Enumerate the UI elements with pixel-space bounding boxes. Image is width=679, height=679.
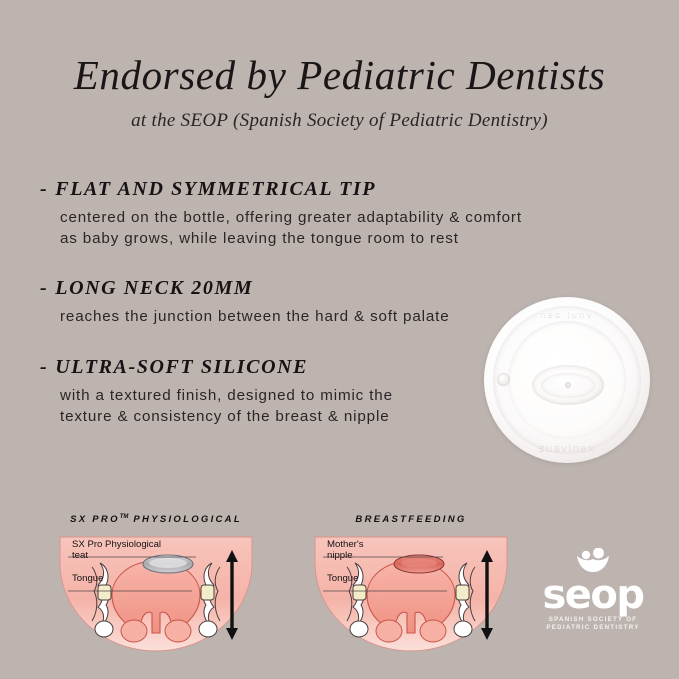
page-subtitle: at the SEOP (Spanish Society of Pediatri… xyxy=(0,109,679,133)
product-feature-panel: Endorsed by Pediatric Dentists at the SE… xyxy=(0,0,679,679)
feature-heading-text: LONG NECK 20MM xyxy=(55,275,253,301)
seop-tagline-line: SPANISH SOCIETY OF xyxy=(533,616,653,624)
bullet-dash: - xyxy=(40,176,48,202)
teat-flow-hole xyxy=(565,382,571,388)
feature-body-line: centered on the bottle, offering greater… xyxy=(60,207,600,228)
page-title: Endorsed by Pediatric Dentists xyxy=(0,52,679,98)
diagram-label-teat: SX Pro Physiological teat xyxy=(72,539,161,561)
diagram-title-suffix: PHYSIOLOGICAL xyxy=(133,514,242,525)
diagram-sx-pro-physiological: SX PROTM PHYSIOLOGICAL xyxy=(56,533,256,655)
seop-tagline: SPANISH SOCIETY OF PEDIATRIC DENTISTRY xyxy=(533,616,653,631)
teat-emboss-bottom: suavinex xyxy=(484,442,650,454)
teat-vent-notch xyxy=(497,373,510,386)
header: Endorsed by Pediatric Dentists at the SE… xyxy=(0,52,679,133)
seop-logo: seop SPANISH SOCIETY OF PEDIATRIC DENTIS… xyxy=(533,548,653,626)
seop-emblem-icon xyxy=(573,548,613,574)
trademark-mark: TM xyxy=(120,514,129,520)
feature-heading: - FLAT AND SYMMETRICAL TIP xyxy=(40,176,600,202)
feature-heading-text: FLAT AND SYMMETRICAL TIP xyxy=(55,176,376,202)
seop-wordmark: seop xyxy=(533,575,653,615)
diagram-title-text: BREASTFEEDING xyxy=(355,514,466,525)
feature-item: - FLAT AND SYMMETRICAL TIP centered on t… xyxy=(40,176,600,249)
diagram-label-tongue: Tongue xyxy=(327,573,358,584)
bullet-dash: - xyxy=(40,275,48,301)
diagram-title: BREASTFEEDING xyxy=(311,514,511,525)
diagram-title: SX PROTM PHYSIOLOGICAL xyxy=(56,514,256,525)
bullet-dash: - xyxy=(40,354,48,380)
feature-body: centered on the bottle, offering greater… xyxy=(40,207,600,249)
product-photo-teat: neo lunv suavinex xyxy=(484,297,650,463)
teat-emboss-top: neo lunv xyxy=(484,309,650,319)
diagram-breastfeeding: BREASTFEEDING xyxy=(311,533,511,655)
diagram-title-text: SX PRO xyxy=(70,514,120,525)
diagram-label-nipple: Mother's nipple xyxy=(327,539,364,561)
feature-heading-text: ULTRA-SOFT SILICONE xyxy=(55,354,308,380)
seop-tagline-line: PEDIATRIC DENTISTRY xyxy=(533,624,653,632)
feature-body-line: as baby grows, while leaving the tongue … xyxy=(60,228,600,249)
diagram-label-tongue: Tongue xyxy=(72,573,103,584)
